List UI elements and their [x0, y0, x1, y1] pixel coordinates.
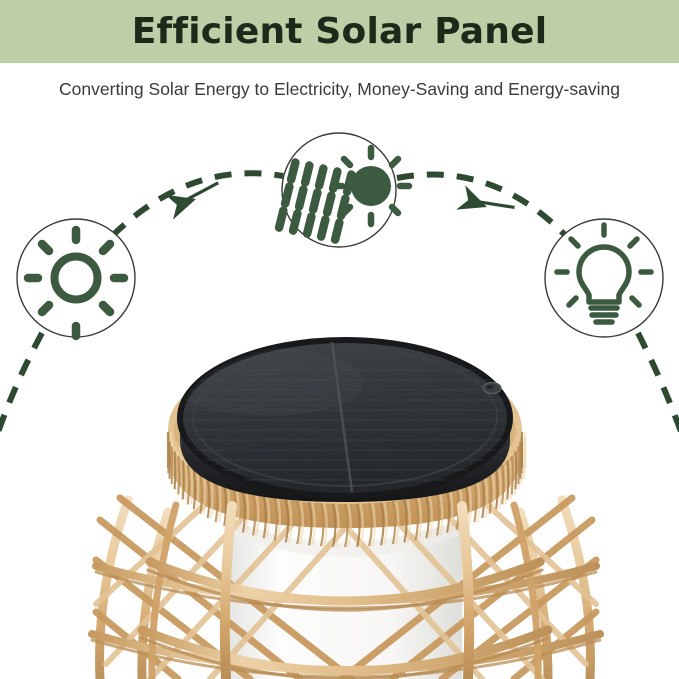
rim-strand — [502, 465, 503, 504]
rim-strand — [183, 461, 184, 500]
product-photo — [0, 0, 679, 679]
panel-sensor-dot — [483, 383, 501, 394]
rim-strand — [518, 447, 519, 485]
rim-strand-highlight — [186, 461, 187, 500]
rim-strand — [175, 451, 176, 489]
solar-panel-disc — [172, 340, 510, 502]
rim-strand — [507, 461, 508, 500]
rim-strand — [512, 456, 513, 494]
rim-strand — [188, 465, 189, 504]
lantern-illustration — [92, 340, 600, 679]
rim-strand — [172, 447, 173, 485]
rim-strand-highlight — [191, 465, 192, 504]
rim-strand — [515, 451, 516, 489]
infographic-page: Efficient Solar Panel Converting Solar E… — [0, 0, 679, 679]
rim-strand — [178, 456, 179, 494]
rim-strand-highlight — [499, 469, 500, 509]
rim-strand-highlight — [197, 469, 198, 509]
